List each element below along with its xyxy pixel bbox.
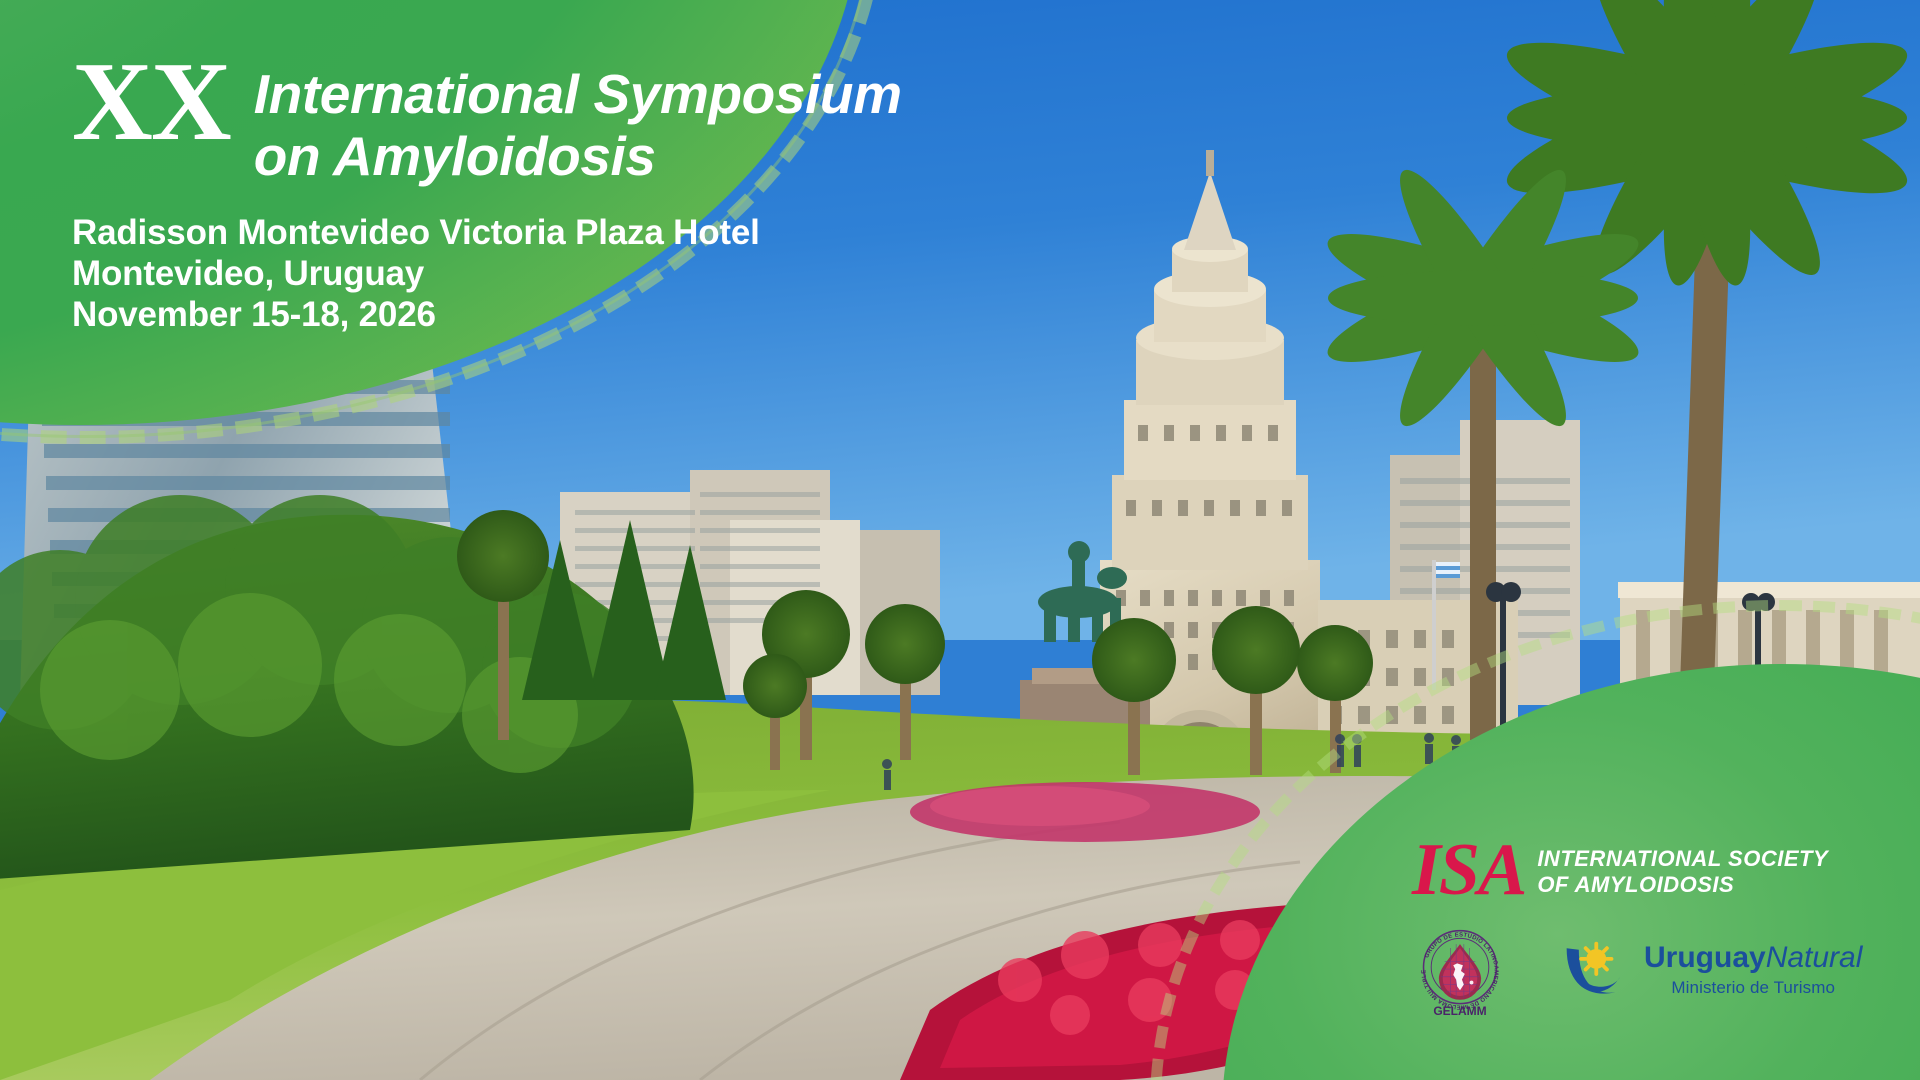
logo-cluster: ISA INTERNATIONAL SOCIETY OF AMYLOIDOSIS…	[1412, 840, 1862, 1019]
sun-icon	[1581, 943, 1611, 973]
uruguay-natural-wordmark: UruguayNatural Ministerio de Turismo	[1644, 943, 1862, 998]
event-details: Radisson Montevideo Victoria Plaza Hotel…	[72, 213, 902, 336]
edition-numeral: XX	[72, 49, 230, 157]
uruguay-word: Uruguay	[1644, 941, 1766, 974]
gelamm-logo[interactable]: GRUPO DE ESTUDIO LATINOAMERICANO DE MIEL…	[1412, 923, 1508, 1019]
natural-word: Natural	[1766, 941, 1863, 974]
symposium-title-lines: International Symposium on Amyloidosis	[254, 55, 902, 187]
uruguay-ministry-subtitle: Ministerio de Turismo	[1644, 978, 1862, 998]
event-header: XX International Symposium on Amyloidosi…	[72, 55, 902, 336]
uruguay-natural-title: UruguayNatural	[1644, 943, 1862, 973]
isa-logo[interactable]: ISA INTERNATIONAL SOCIETY OF AMYLOIDOSIS	[1412, 840, 1862, 901]
venue-name: Radisson Montevideo Victoria Plaza Hotel	[72, 213, 902, 254]
uruguay-sun-crescent-icon	[1556, 933, 1632, 1009]
isa-full-name: INTERNATIONAL SOCIETY OF AMYLOIDOSIS	[1537, 842, 1828, 898]
gelamm-acronym: GELAMM	[1433, 1004, 1486, 1018]
venue-city: Montevideo, Uruguay	[72, 254, 902, 295]
partner-logos: GRUPO DE ESTUDIO LATINOAMERICANO DE MIEL…	[1412, 923, 1862, 1019]
isa-name-line-1: INTERNATIONAL SOCIETY	[1537, 846, 1828, 872]
title-line-2: on Amyloidosis	[254, 126, 902, 188]
title-line-1: International Symposium	[254, 64, 902, 126]
symposium-banner: XX International Symposium on Amyloidosi…	[0, 0, 1920, 1080]
isa-monogram: ISA	[1412, 840, 1525, 901]
event-title: XX International Symposium on Amyloidosi…	[72, 55, 902, 187]
isa-name-line-2: OF AMYLOIDOSIS	[1537, 872, 1828, 898]
uruguay-natural-logo[interactable]: UruguayNatural Ministerio de Turismo	[1556, 933, 1862, 1009]
event-dates: November 15-18, 2026	[72, 295, 902, 336]
